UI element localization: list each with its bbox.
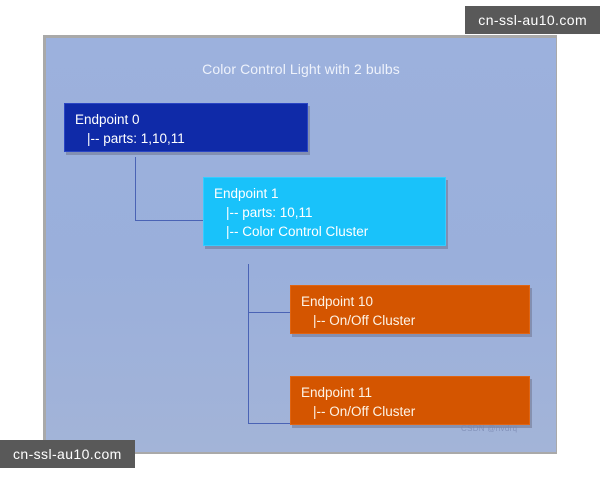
embedded-faint-watermark: CSDN @nvdrq: [461, 424, 517, 433]
endpoint-10-detail-onoff-cluster: |-- On/Off Cluster: [301, 311, 529, 330]
connector-ep0-to-ep1-horizontal: [135, 220, 203, 221]
connector-ep1-to-ep10-horizontal: [248, 312, 291, 313]
diagram-title: Color Control Light with 2 bulbs: [46, 61, 556, 77]
connector-ep1-to-ep11-horizontal: [248, 423, 291, 424]
node-endpoint-10[interactable]: Endpoint 10 |-- On/Off Cluster: [290, 285, 530, 334]
node-endpoint-11[interactable]: Endpoint 11 |-- On/Off Cluster: [290, 376, 530, 425]
connector-ep1-to-bulbs-vertical: [248, 264, 249, 424]
endpoint-1-detail-parts: |-- parts: 10,11: [214, 203, 445, 222]
watermark-bottom-left: cn-ssl-au10.com: [0, 440, 135, 468]
endpoint-11-detail-onoff-cluster: |-- On/Off Cluster: [301, 402, 529, 421]
endpoint-11-title: Endpoint 11: [301, 383, 529, 402]
endpoint-0-title: Endpoint 0: [75, 110, 307, 129]
endpoint-0-detail-parts: |-- parts: 1,10,11: [75, 129, 307, 148]
diagram-canvas: Color Control Light with 2 bulbs Endpoin…: [0, 0, 600, 480]
endpoint-1-title: Endpoint 1: [214, 184, 445, 203]
endpoint-10-title: Endpoint 10: [301, 292, 529, 311]
diagram-panel: Color Control Light with 2 bulbs Endpoin…: [46, 38, 556, 452]
watermark-top-right: cn-ssl-au10.com: [465, 6, 600, 34]
node-endpoint-1[interactable]: Endpoint 1 |-- parts: 10,11 |-- Color Co…: [203, 177, 446, 246]
endpoint-1-detail-color-control-cluster: |-- Color Control Cluster: [214, 222, 445, 241]
connector-ep0-to-ep1-vertical: [135, 157, 136, 221]
node-endpoint-0[interactable]: Endpoint 0 |-- parts: 1,10,11: [64, 103, 308, 152]
